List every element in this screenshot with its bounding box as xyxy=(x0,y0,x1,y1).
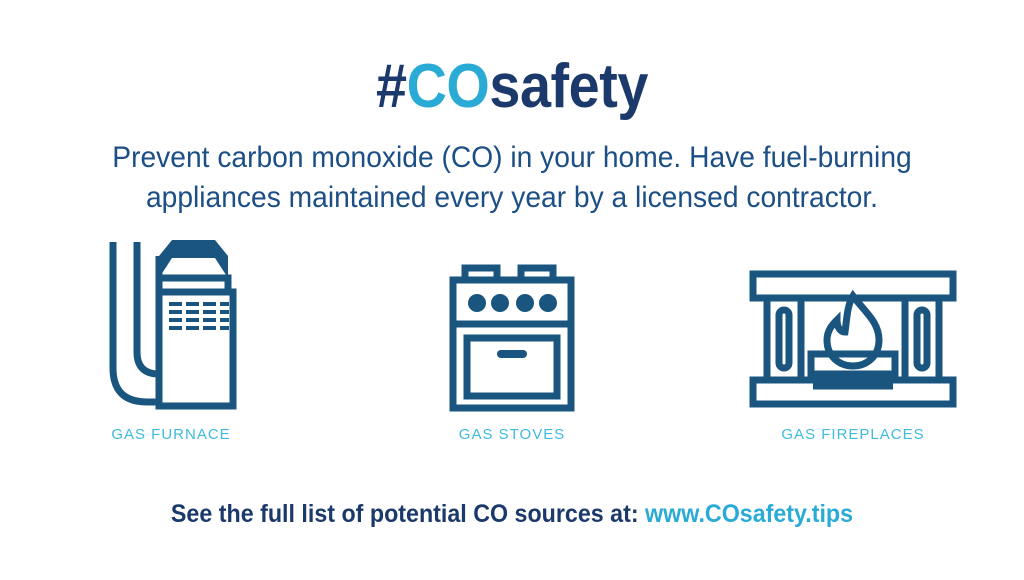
appliance-icon-row: GAS FURNACE xyxy=(0,232,1024,452)
title-hash: # xyxy=(376,52,407,121)
appliance-item-gas-stoves: GAS STOVES xyxy=(342,232,683,443)
gas-stove-icon xyxy=(445,232,579,414)
appliance-label-gas-stoves: GAS STOVES xyxy=(459,426,565,443)
title-rest: safety xyxy=(489,52,648,121)
title-highlight: CO xyxy=(407,52,490,121)
cosafety-infographic: #COsafety Prevent carbon monoxide (CO) i… xyxy=(0,0,1024,580)
appliance-label-gas-fireplaces: GAS FIREPLACES xyxy=(781,426,924,443)
appliance-item-gas-fireplaces: GAS FIREPLACES xyxy=(683,232,1024,443)
gas-furnace-icon xyxy=(97,232,245,414)
appliance-label-gas-furnace: GAS FURNACE xyxy=(111,426,230,443)
footer-link[interactable]: www.COsafety.tips xyxy=(645,500,853,528)
footer-lead-text: See the full list of potential CO source… xyxy=(171,500,639,528)
appliance-item-gas-furnace: GAS FURNACE xyxy=(1,232,342,443)
page-title: #COsafety xyxy=(51,54,973,119)
subtitle-line-2: appliances maintained every year by a li… xyxy=(78,178,947,218)
subtitle: Prevent carbon monoxide (CO) in your hom… xyxy=(78,138,947,218)
footer: See the full list of potential CO source… xyxy=(36,500,988,529)
subtitle-line-1: Prevent carbon monoxide (CO) in your hom… xyxy=(78,138,947,178)
gas-fireplace-icon xyxy=(747,232,959,414)
